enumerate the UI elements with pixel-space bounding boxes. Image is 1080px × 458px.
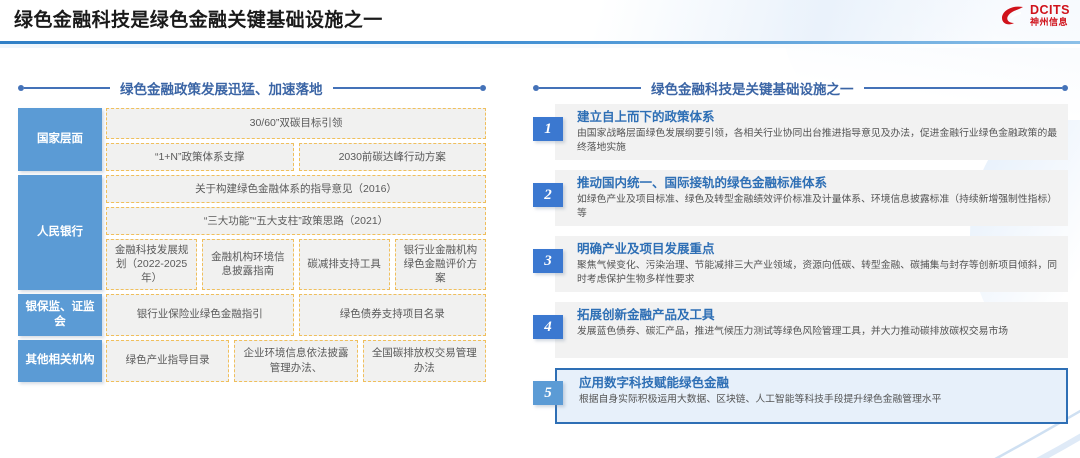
brand-logo: DCITS 神州信息 — [1000, 4, 1070, 27]
policy-cell-row: 30/60”双碳目标引领 — [106, 108, 486, 139]
slide-canvas: 绿色金融科技是绿色金融关键基础设施之一 DCITS 神州信息 绿色金融政策发展迅… — [0, 0, 1080, 458]
list-item-title: 拓展创新金融产品及工具 — [577, 308, 1058, 324]
policy-cell-row: “1+N”政策体系支撑2030前碳达峰行动方案 — [106, 143, 486, 171]
header-dot-left-2 — [480, 85, 486, 91]
policy-cell-group: 关于构建绿色金融体系的指导意见（2016）“三大功能”“五大支柱”政策思路（20… — [106, 175, 486, 290]
policy-category-label: 人民银行 — [18, 175, 102, 290]
left-section-header-label: 绿色金融政策发展迅猛、加速落地 — [110, 78, 333, 98]
key-infrastructure-list: 建立自上而下的政策体系由国家战略层面绿色发展纲要引领，各相关行业协同出台推进指导… — [533, 104, 1068, 424]
policy-cell-group: 银行业保险业绿色金融指引绿色债券支持项目名录 — [106, 294, 486, 336]
list-item-description: 聚焦气候变化、污染治理、节能减排三大产业领域，资源向低碳、转型金融、碳捕集与封存… — [577, 259, 1058, 287]
list-item-description: 发展蓝色债券、碳汇产品，推进气候压力测试等绿色风险管理工具，并大力推动碳排放碳权… — [577, 325, 1058, 339]
policy-cell-row: 金融科技发展规划（2022-2025年）金融机构环境信息披露指南碳减排支持工具银… — [106, 239, 486, 290]
header-line-left-2 — [333, 87, 481, 89]
policy-cell[interactable]: “1+N”政策体系支撑 — [106, 143, 294, 171]
list-item-body: 应用数字科技赋能绿色金融根据自身实际积极运用大数据、区块链、人工智能等科技手段提… — [555, 368, 1068, 424]
list-item[interactable]: 明确产业及项目发展重点聚焦气候变化、污染治理、节能减排三大产业领域，资源向低碳、… — [533, 236, 1068, 292]
policy-cell[interactable]: 绿色产业指导目录 — [106, 340, 229, 382]
policy-cell-row: 关于构建绿色金融体系的指导意见（2016） — [106, 175, 486, 203]
policy-cell[interactable]: 30/60”双碳目标引领 — [106, 108, 486, 139]
swirl-icon — [1000, 5, 1026, 27]
list-item-body: 建立自上而下的政策体系由国家战略层面绿色发展纲要引领，各相关行业协同出台推进指导… — [555, 104, 1068, 160]
list-item-number-badge: 3 — [533, 249, 563, 273]
policy-cell[interactable]: 企业环境信息依法披露管理办法、 — [234, 340, 357, 382]
list-item-number-badge: 4 — [533, 315, 563, 339]
list-item-title: 明确产业及项目发展重点 — [577, 242, 1058, 258]
list-item[interactable]: 拓展创新金融产品及工具发展蓝色债券、碳汇产品，推进气候压力测试等绿色风险管理工具… — [533, 302, 1068, 358]
policy-cell[interactable]: 银行业金融机构绿色金融评价方案 — [395, 239, 486, 290]
header-line-left — [24, 87, 110, 89]
policy-cell[interactable]: “三大功能”“五大支柱”政策思路（2021） — [106, 207, 486, 235]
policy-cell[interactable]: 金融机构环境信息披露指南 — [202, 239, 293, 290]
list-item-title: 应用数字科技赋能绿色金融 — [579, 376, 1056, 392]
policy-table-row: 国家层面30/60”双碳目标引领“1+N”政策体系支撑2030前碳达峰行动方案 — [18, 108, 486, 171]
list-item-number-badge: 5 — [533, 381, 563, 405]
policy-table-row: 银保监、证监会银行业保险业绿色金融指引绿色债券支持项目名录 — [18, 294, 486, 336]
policy-category-label: 其他相关机构 — [18, 340, 102, 382]
policy-cell[interactable]: 银行业保险业绿色金融指引 — [106, 294, 294, 336]
policy-table-row: 人民银行关于构建绿色金融体系的指导意见（2016）“三大功能”“五大支柱”政策思… — [18, 175, 486, 290]
title-divider-soft — [0, 44, 1080, 48]
list-item-title: 建立自上而下的政策体系 — [577, 110, 1058, 126]
list-item-description: 根据自身实际积极运用大数据、区块链、人工智能等科技手段提升绿色金融管理水平 — [579, 393, 1056, 407]
list-item-description: 由国家战略层面绿色发展纲要引领，各相关行业协同出台推进指导意见及办法，促进金融行… — [577, 127, 1058, 155]
policy-category-label: 国家层面 — [18, 108, 102, 171]
list-item-description: 如绿色产业及项目标准、绿色及转型金融绩效评价标准及计量体系、环境信息披露标准（持… — [577, 193, 1058, 221]
list-item-body: 明确产业及项目发展重点聚焦气候变化、污染治理、节能减排三大产业领域，资源向低碳、… — [555, 236, 1068, 292]
policy-cell[interactable]: 全国碳排放权交易管理办法 — [363, 340, 486, 382]
list-item-body: 推动国内统一、国际接轨的绿色金融标准体系如绿色产业及项目标准、绿色及转型金融绩效… — [555, 170, 1068, 226]
policy-cell-group: 绿色产业指导目录企业环境信息依法披露管理办法、全国碳排放权交易管理办法 — [106, 340, 486, 382]
policy-cell[interactable]: 碳减排支持工具 — [299, 239, 390, 290]
logo-text-en: DCITS — [1030, 4, 1070, 17]
policy-cell-row: 绿色产业指导目录企业环境信息依法披露管理办法、全国碳排放权交易管理办法 — [106, 340, 486, 382]
list-item-number-badge: 1 — [533, 117, 563, 141]
policy-cell-row: “三大功能”“五大支柱”政策思路（2021） — [106, 207, 486, 235]
header-line-right — [539, 87, 641, 89]
policy-category-label: 银保监、证监会 — [18, 294, 102, 336]
policy-cell-group: 30/60”双碳目标引领“1+N”政策体系支撑2030前碳达峰行动方案 — [106, 108, 486, 171]
right-section-header: 绿色金融科技是关键基础设施之一 — [533, 78, 1068, 98]
header-line-right-2 — [864, 87, 1063, 89]
policy-cell[interactable]: 金融科技发展规划（2022-2025年） — [106, 239, 197, 290]
policy-cell[interactable]: 绿色债券支持项目名录 — [299, 294, 487, 336]
list-item[interactable]: 推动国内统一、国际接轨的绿色金融标准体系如绿色产业及项目标准、绿色及转型金融绩效… — [533, 170, 1068, 226]
slide-title-bar: 绿色金融科技是绿色金融关键基础设施之一 — [0, 0, 1080, 44]
policy-table: 国家层面30/60”双碳目标引领“1+N”政策体系支撑2030前碳达峰行动方案人… — [18, 108, 486, 382]
list-item-title: 推动国内统一、国际接轨的绿色金融标准体系 — [577, 176, 1058, 192]
policy-table-row: 其他相关机构绿色产业指导目录企业环境信息依法披露管理办法、全国碳排放权交易管理办… — [18, 340, 486, 382]
list-item-body: 拓展创新金融产品及工具发展蓝色债券、碳汇产品，推进气候压力测试等绿色风险管理工具… — [555, 302, 1068, 358]
page-title: 绿色金融科技是绿色金融关键基础设施之一 — [14, 5, 383, 32]
header-dot-right-2 — [1062, 85, 1068, 91]
logo-text-cn: 神州信息 — [1030, 18, 1070, 27]
list-item-number-badge: 2 — [533, 183, 563, 207]
list-item[interactable]: 应用数字科技赋能绿色金融根据自身实际积极运用大数据、区块链、人工智能等科技手段提… — [533, 368, 1068, 424]
policy-cell[interactable]: 2030前碳达峰行动方案 — [299, 143, 487, 171]
left-section-header: 绿色金融政策发展迅猛、加速落地 — [18, 78, 486, 98]
policy-cell-row: 银行业保险业绿色金融指引绿色债券支持项目名录 — [106, 294, 486, 336]
right-section-header-label: 绿色金融科技是关键基础设施之一 — [641, 78, 864, 98]
list-item[interactable]: 建立自上而下的政策体系由国家战略层面绿色发展纲要引领，各相关行业协同出台推进指导… — [533, 104, 1068, 160]
policy-cell[interactable]: 关于构建绿色金融体系的指导意见（2016） — [106, 175, 486, 203]
